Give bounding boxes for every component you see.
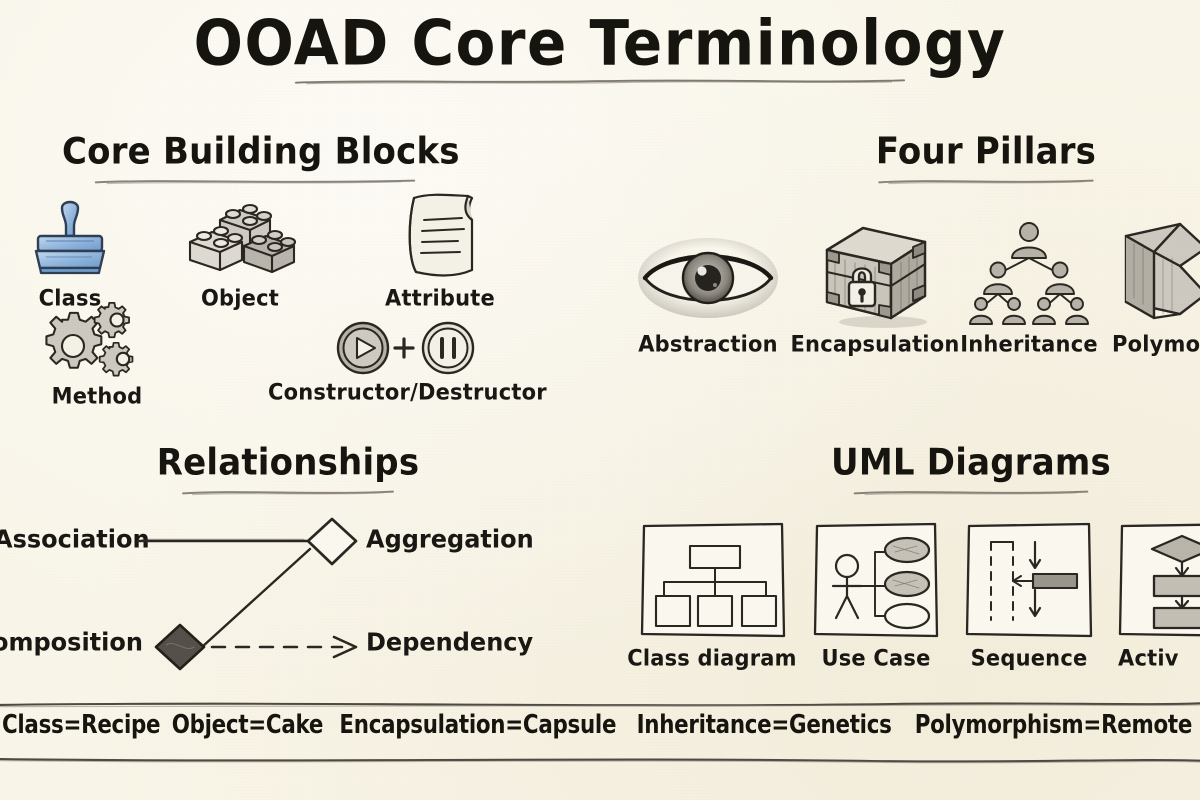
- term-label: Method: [22, 383, 172, 408]
- term-label: Inheritance: [956, 331, 1102, 356]
- term-label: Polymor: [1110, 331, 1200, 356]
- term-abstraction[interactable]: Abstraction: [630, 222, 786, 356]
- page-title: OOAD Core Terminology: [0, 12, 1200, 75]
- rubber-stamp-icon: [0, 192, 140, 284]
- term-label: Encapsulation: [790, 331, 960, 356]
- relationship-notation-diagram: [120, 505, 380, 685]
- term-class[interactable]: Class: [0, 192, 140, 310]
- page-title-block: OOAD Core Terminology: [0, 14, 1200, 85]
- analogy-banner: Class=Recipe Object=Cake Encapsulation=C…: [0, 700, 1200, 764]
- term-label: Object: [170, 285, 310, 310]
- term-polymorphism[interactable]: Polymor: [1110, 206, 1200, 356]
- lego-bricks-icon: [170, 190, 310, 284]
- gears-icon: [22, 300, 172, 382]
- analogy-item: Encapsulation=Capsule: [339, 710, 616, 739]
- analogy-item: Object=Cake: [172, 710, 323, 739]
- term-label: Attribute: [370, 285, 510, 310]
- term-encapsulation[interactable]: Encapsulation: [790, 212, 960, 356]
- section-heading-uml-diagrams: UML Diagrams: [806, 443, 1136, 496]
- uml-activity-diagram[interactable]: Activ: [1114, 512, 1200, 670]
- analogy-list: Class=Recipe Object=Cake Encapsulation=C…: [0, 712, 1200, 738]
- term-inheritance[interactable]: Inheritance: [956, 216, 1102, 356]
- class-diagram-icon: [624, 512, 800, 644]
- uml-sequence-diagram[interactable]: Sequence: [958, 512, 1100, 670]
- hollow-diamond-notation: [308, 519, 356, 564]
- uml-class-diagram[interactable]: Class diagram: [624, 512, 800, 670]
- uml-label: Sequence: [958, 645, 1100, 670]
- term-object[interactable]: Object: [170, 190, 310, 310]
- section-heading-core-building-blocks: Core Building Blocks: [62, 132, 447, 185]
- term-label: Abstraction: [630, 331, 786, 356]
- use-case-diagram-icon: [806, 512, 946, 644]
- term-label: Constructor/Destructor: [268, 379, 544, 404]
- section-underline: [835, 489, 1107, 496]
- whiteboard-canvas: OOAD Core Terminology Core Building Bloc…: [0, 0, 1200, 800]
- term-attribute[interactable]: Attribute: [370, 186, 510, 310]
- scroll-document-icon: [370, 186, 510, 284]
- relationship-label-aggregation[interactable]: Aggregation: [366, 524, 534, 553]
- activity-diagram-icon: [1114, 512, 1200, 644]
- uml-label: Activ: [1114, 645, 1200, 670]
- analogy-item: Inheritance=Genetics: [636, 710, 891, 739]
- section-underline: [70, 178, 440, 185]
- section-heading-four-pillars: Four Pillars: [836, 132, 1136, 185]
- filled-diamond-notation: [156, 625, 204, 669]
- sequence-diagram-icon: [958, 512, 1100, 644]
- banner-top-rule: [0, 700, 1200, 708]
- relationship-label-dependency[interactable]: Dependency: [366, 627, 533, 656]
- play-pause-icon: [268, 316, 544, 378]
- uml-label: Use Case: [806, 645, 946, 670]
- dashed-arrow-notation: [212, 637, 356, 657]
- hierarchy-tree-icon: [956, 216, 1102, 330]
- section-underline: [165, 489, 411, 496]
- locked-box-icon: [790, 212, 960, 330]
- eye-icon: [630, 222, 786, 330]
- shape-transform-icon: [1110, 206, 1200, 330]
- uml-use-case-diagram[interactable]: Use Case: [806, 512, 946, 670]
- analogy-item: Polymorphism=Remote Contro: [915, 710, 1200, 739]
- uml-label: Class diagram: [624, 645, 800, 670]
- term-constructor-destructor[interactable]: Constructor/Destructor: [268, 316, 544, 404]
- section-heading-relationships: Relationships: [128, 443, 448, 496]
- section-underline: [861, 178, 1111, 185]
- analogy-item: Class=Recipe: [2, 710, 160, 739]
- banner-bottom-rule: [0, 756, 1200, 764]
- term-method[interactable]: Method: [22, 300, 172, 408]
